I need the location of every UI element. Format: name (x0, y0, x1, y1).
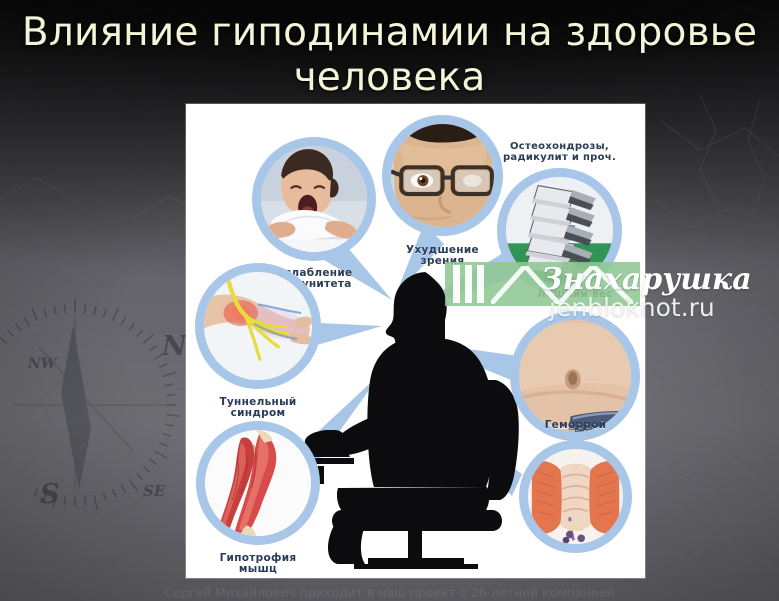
bubble-vision[interactable]: Ухудшение зрения (382, 115, 503, 236)
bubble-muscle-label-l2: мышц (239, 563, 277, 575)
bubble-spine-label-l1: Остеохондрозы, (510, 141, 609, 152)
overweight-belly-icon (519, 320, 631, 432)
bubble-hemorrhoid-label-l1: Геморрой (545, 419, 607, 431)
slide-canvas: N NW NE E S SE Влияние гиподинамии на зд… (0, 0, 779, 601)
hemorrhoid-anatomy-icon (528, 449, 623, 544)
carpal-tunnel-hand-icon (204, 272, 312, 380)
bubble-immunity[interactable]: Ослабление иммунитета (252, 137, 376, 261)
bubble-spine-label-l2: радикулит и проч. (503, 152, 616, 163)
bubble-weight-label: Лишний вес (492, 289, 645, 301)
bubble-tunnel-label: Туннельный синдром (186, 397, 339, 421)
bubble-tunnel-photo (204, 272, 312, 380)
bubble-spine-photo (506, 177, 613, 284)
bubble-weight-label-l1: Лишний вес (537, 288, 613, 300)
bubble-tunnel[interactable]: Туннельный синдром (195, 263, 321, 389)
bubble-spine-label: Остеохондрозы, радикулит и проч. (479, 141, 640, 163)
sneezing-man-icon (261, 146, 367, 252)
bubble-immunity-photo (261, 146, 367, 252)
bubble-vision-label-l2: зрения (421, 255, 465, 267)
bubble-muscle-photo (205, 430, 311, 536)
bubble-tunnel-label-l2: синдром (231, 407, 286, 419)
bubble-spine[interactable]: Остеохондрозы, радикулит и проч. (497, 168, 622, 293)
bubble-hemorrhoid[interactable]: Геморрой (519, 440, 632, 553)
bubble-tunnel-label-l1: Туннельный (219, 396, 296, 408)
bubble-muscle-label: Гипотрофия мышц (186, 553, 338, 577)
leg-muscle-anatomy-icon (205, 430, 311, 536)
infographic-panel: Ослабление иммунитета (186, 104, 645, 578)
bubble-vision-label-l1: Ухудшение (406, 244, 479, 256)
bubble-hemorrhoid-label: Геморрой (501, 420, 645, 432)
bubble-vision-photo (391, 124, 494, 227)
spine-vertebrae-icon (506, 177, 613, 284)
eyeglasses-face-icon (391, 124, 494, 227)
bubble-vision-label: Ухудшение зрения (364, 245, 521, 269)
bubble-hemorrhoid-photo (528, 449, 623, 544)
bubble-muscle-label-l1: Гипотрофия (220, 552, 297, 564)
bubble-muscle[interactable]: Гипотрофия мышц (196, 421, 320, 545)
bubble-weight-photo (519, 320, 631, 432)
